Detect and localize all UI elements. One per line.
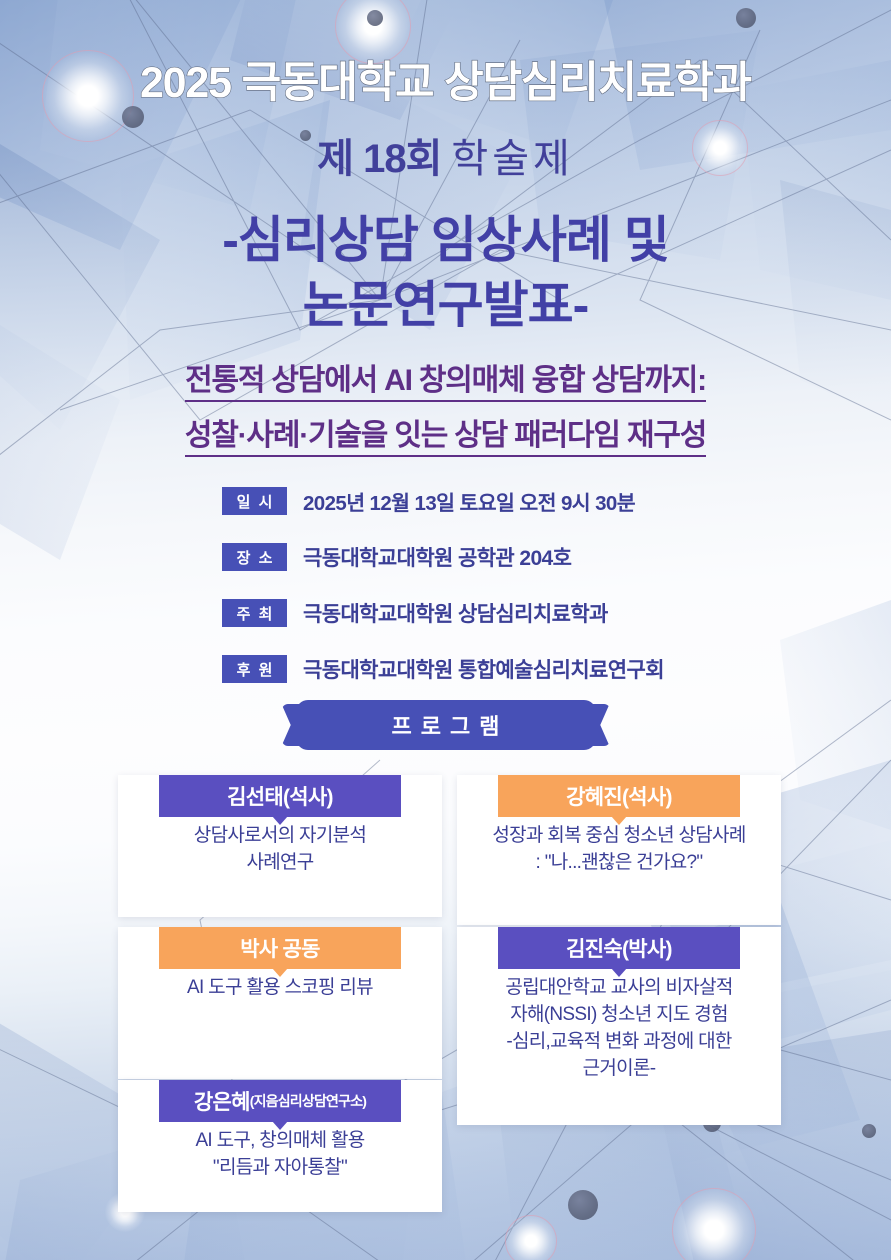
poster-title-line1: 2025 극동대학교 상담심리치료학과 [0,48,891,110]
program-card-header: 강혜진(석사) [498,775,740,817]
poster-subtitle-line2-text: 성찰·사례·기술을 잇는 상담 패러다임 재구성 [185,419,706,457]
info-label-datetime: 일 시 [222,487,287,515]
event-type-label: 학술제 [451,137,573,181]
presenter-name: 김진숙(박사) [566,933,672,963]
program-card-header: 박사 공동 [159,927,401,969]
program-card-kang-hyejin: 강혜진(석사) 성장과 회복 중심 청소년 상담사례: "나...괜찮은 건가요… [457,775,781,925]
info-row-sponsor: 후 원 극동대학교대학원 통합예술심리치료연구회 [222,653,664,685]
program-card-phd-joint: 박사 공동 AI 도구 활용 스코핑 리뷰 [118,927,442,1079]
poster-title-line2: 제 18회학술제 [0,126,891,184]
program-card-kim-seontae: 김선태(석사) 상담사로서의 자기분석사례연구 [118,775,442,917]
info-value-host: 극동대학교대학원 상담심리치료학과 [303,598,608,628]
program-card-header: 강은혜(지음심리상담연구소) [159,1080,401,1122]
poster-canvas: 2025 극동대학교 상담심리치료학과 제 18회학술제 -심리상담 임상사례 … [0,0,891,1260]
program-card-kim-jinsook: 김진숙(박사) 공립대안학교 교사의 비자살적자해(NSSI) 청소년 지도 경… [457,927,781,1125]
info-label-host: 주 최 [222,599,287,627]
info-label-venue: 장 소 [222,543,287,571]
poster-subtitle-line1: 전통적 상담에서 AI 창의매체 융합 상담까지: [0,355,891,399]
program-card-header: 김선태(석사) [159,775,401,817]
poster-title-line4: 논문연구발표- [0,265,891,337]
program-banner-wrap: 프로그램 [0,700,891,750]
info-row-datetime: 일 시 2025년 12월 13일 토요일 오전 9시 30분 [222,485,664,517]
info-row-host: 주 최 극동대학교대학원 상담심리치료학과 [222,597,664,629]
poster-title-line3: -심리상담 임상사례 및 [0,200,891,272]
info-row-venue: 장 소 극동대학교대학원 공학관 204호 [222,541,664,573]
program-card-kang-eunhye: 강은혜(지음심리상담연구소) AI 도구, 창의매체 활용"리듬과 자아통찰" [118,1080,442,1212]
info-value-datetime: 2025년 12월 13일 토요일 오전 9시 30분 [303,486,635,516]
presenter-name: 강혜진(석사) [566,781,672,811]
presenter-name: 강은혜 [194,1086,250,1116]
poster-subtitle-line2: 성찰·사례·기술을 잇는 상담 패러다임 재구성 [0,410,891,454]
presenter-name: 박사 공동 [240,933,320,963]
presenter-affiliation: (지음심리상담연구소) [250,1091,366,1111]
info-label-sponsor: 후 원 [222,655,287,683]
info-value-venue: 극동대학교대학원 공학관 204호 [303,542,571,572]
program-card-header: 김진숙(박사) [498,927,740,969]
edition-number: 제 18회 [317,137,441,181]
presentation-title: 공립대안학교 교사의 비자살적자해(NSSI) 청소년 지도 경험-심리,교육적… [467,961,771,1083]
presenter-name: 김선태(석사) [227,781,333,811]
event-info-list: 일 시 2025년 12월 13일 토요일 오전 9시 30분 장 소 극동대학… [222,485,664,709]
poster-subtitle-line1-text: 전통적 상담에서 AI 창의매체 융합 상담까지: [185,364,706,402]
info-value-sponsor: 극동대학교대학원 통합예술심리치료연구회 [303,654,664,684]
program-banner: 프로그램 [296,700,596,750]
